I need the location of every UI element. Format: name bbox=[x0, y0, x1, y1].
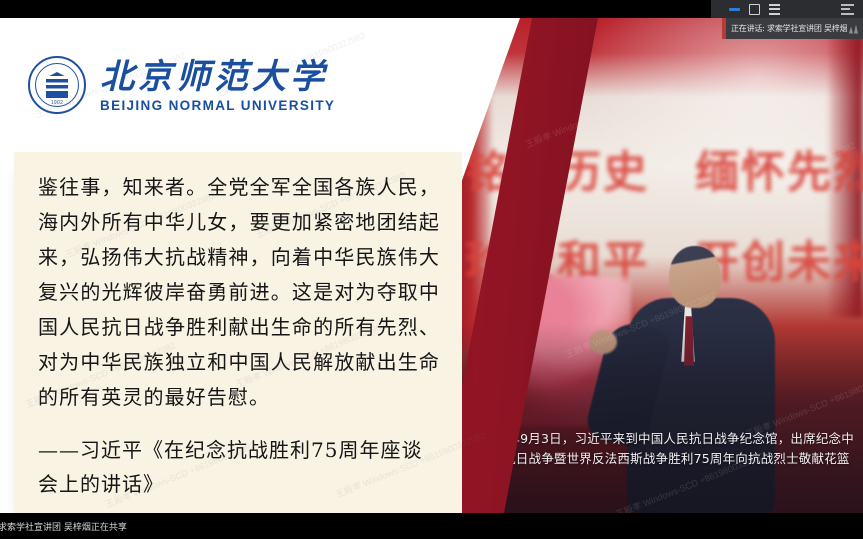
audio-wave-icon bbox=[849, 24, 858, 34]
minimize-icon[interactable] bbox=[729, 8, 740, 11]
share-status-text: 求索学社宣讲团 吴梓烟正在共享 bbox=[0, 520, 127, 533]
active-speaker-bar[interactable]: 正在讲话: 求索学社宣讲团 吴梓烟 bbox=[722, 18, 863, 39]
maximize-icon[interactable] bbox=[749, 4, 760, 15]
speaker-accent-bar bbox=[722, 18, 726, 39]
seal-year: 1902 bbox=[30, 100, 84, 106]
quote-body: 鉴往事，知来者。全党全军全国各族人民，海内外所有中华儿女，要更加紧密地团结起来，… bbox=[38, 170, 440, 415]
logo-chinese-name: 北京师范大学 bbox=[100, 57, 335, 97]
window-titlebar bbox=[0, 0, 863, 18]
quote-attribution: ——习近平《在纪念抗战胜利75周年座谈会上的讲话》 bbox=[38, 433, 440, 501]
window-controls-panel bbox=[711, 0, 863, 18]
quote-card: 鉴往事，知来者。全党全军全国各族人民，海内外所有中华儿女，要更加紧密地团结起来，… bbox=[14, 152, 462, 513]
window-controls bbox=[729, 4, 780, 15]
screen-share-window: 铭记历史 缅怀先烈 珍爱和平 开创未来 △2020年9月3日，习近平来到中国人民… bbox=[0, 0, 863, 539]
university-logo: 1902 北京师范大学 BEIJING NORMAL UNIVERSITY bbox=[28, 56, 335, 114]
share-status-bar: 求索学社宣讲团 吴梓烟正在共享 bbox=[0, 513, 863, 539]
presentation-slide: 铭记历史 缅怀先烈 珍爱和平 开创未来 △2020年9月3日，习近平来到中国人民… bbox=[0, 18, 863, 513]
seal-emblem-icon bbox=[46, 72, 68, 98]
stack-icon[interactable] bbox=[769, 4, 780, 15]
figure-head bbox=[669, 246, 721, 308]
active-speaker-label: 正在讲话: 求索学社宣讲团 吴梓烟 bbox=[731, 23, 847, 34]
logo-english-name: BEIJING NORMAL UNIVERSITY bbox=[100, 98, 335, 113]
logo-wordmark: 北京师范大学 BEIJING NORMAL UNIVERSITY bbox=[100, 57, 335, 113]
photo-caption: △2020年9月3日，习近平来到中国人民抗日战争纪念馆，出席纪念中国人民抗日战争… bbox=[465, 429, 857, 489]
university-seal-icon: 1902 bbox=[28, 56, 86, 114]
list-menu-icon[interactable] bbox=[841, 4, 854, 15]
